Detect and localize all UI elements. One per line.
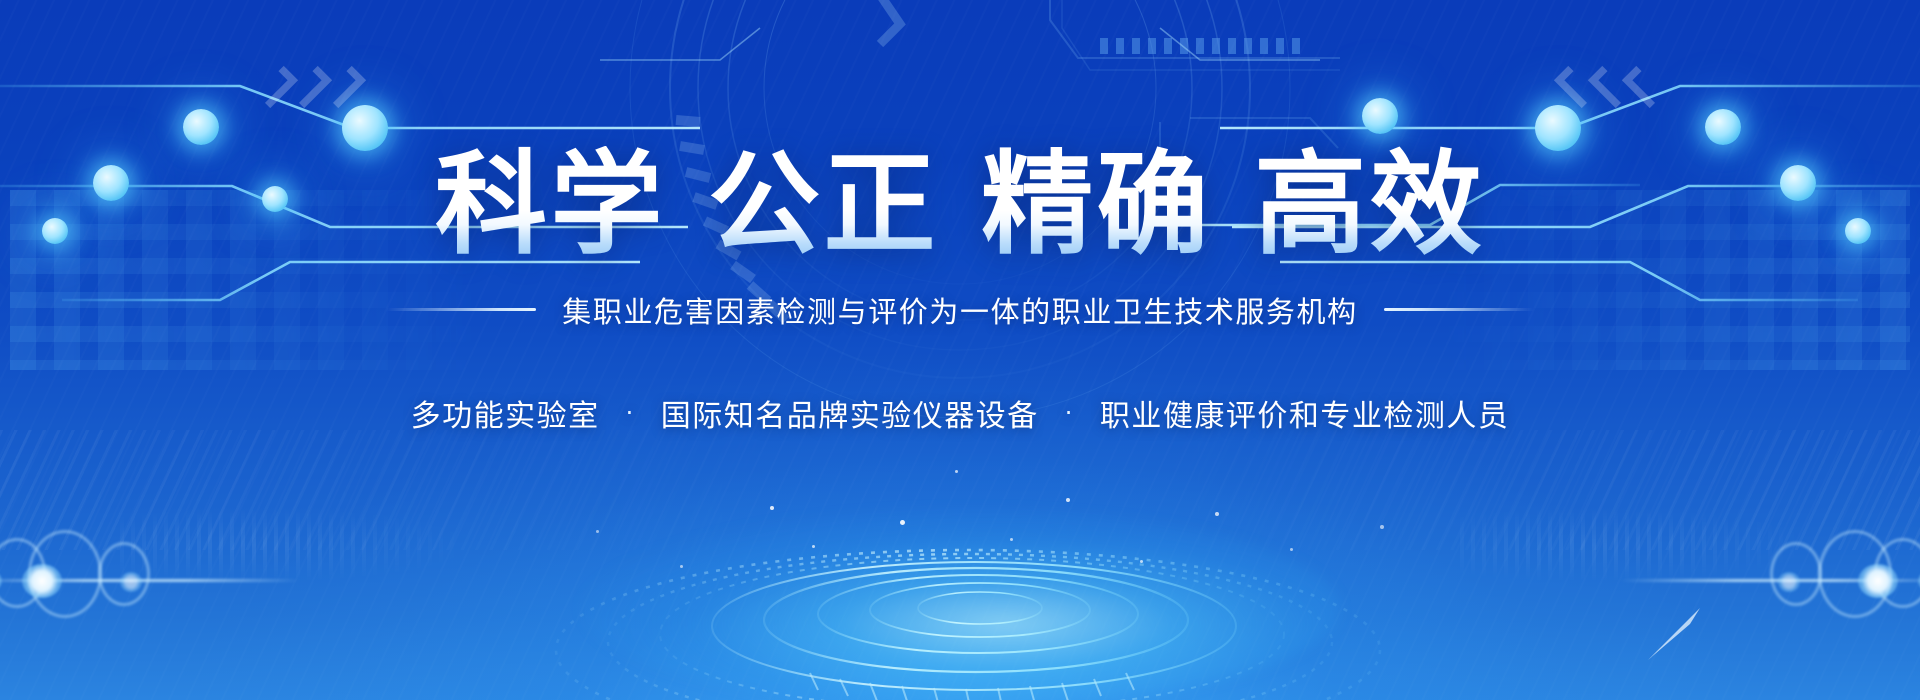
subtitle-rule-right (1384, 308, 1534, 311)
feature-item-3: 职业健康评价和专业检测人员 (1100, 391, 1510, 435)
feature-item-1: 多功能实验室 (411, 391, 600, 435)
page-title: 科学 公正 精确 高效 (435, 146, 1485, 265)
feature-list: 多功能实验室 · 国际知名品牌实验仪器设备 · 职业健康评价和专业检测人员 (411, 391, 1510, 435)
banner-content: 科学 公正 精确 高效 集职业危害因素检测与评价为一体的职业卫生技术服务机构 多… (0, 0, 1920, 700)
hero-banner: 科学 公正 精确 高效 集职业危害因素检测与评价为一体的职业卫生技术服务机构 多… (0, 0, 1920, 700)
feature-separator-2: · (1065, 399, 1074, 427)
feature-separator-1: · (626, 399, 635, 427)
subtitle-row: 集职业危害因素检测与评价为一体的职业卫生技术服务机构 (386, 289, 1533, 331)
subtitle: 集职业危害因素检测与评价为一体的职业卫生技术服务机构 (562, 289, 1357, 331)
subtitle-rule-left (386, 308, 536, 311)
feature-item-2: 国际知名品牌实验仪器设备 (661, 391, 1039, 435)
